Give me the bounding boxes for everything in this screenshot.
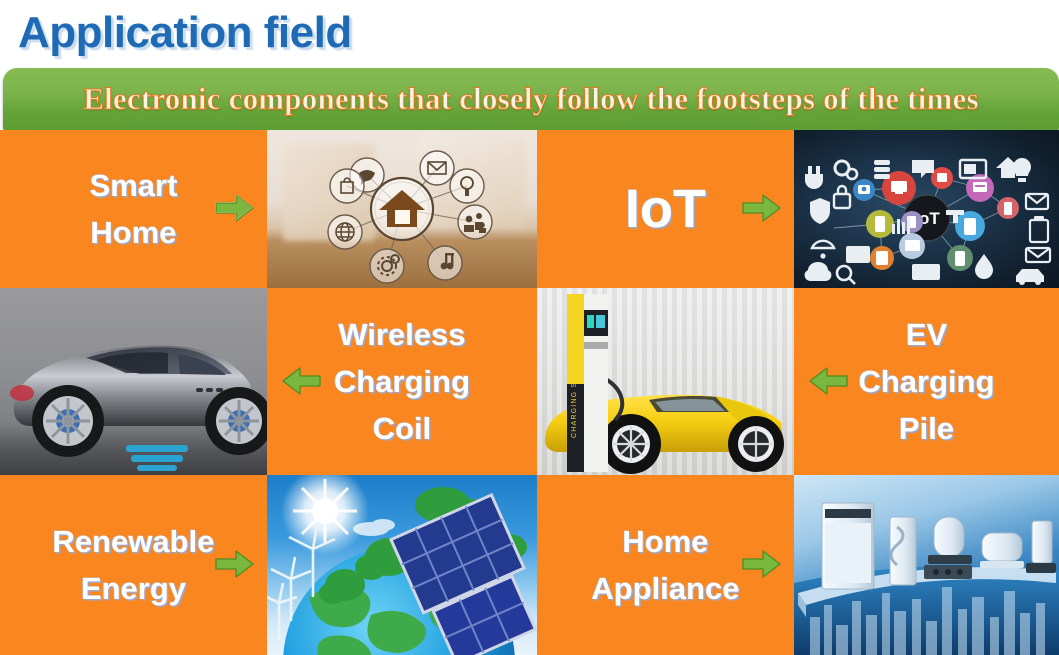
cell-smart-home-image — [267, 130, 537, 288]
arrow-right-icon — [742, 548, 782, 582]
cell-label: IoT — [625, 179, 706, 239]
iot-network-illustration: IoT — [794, 130, 1059, 288]
cell-label: Wireless Charging Coil — [334, 311, 470, 452]
arrow-left-icon — [808, 365, 848, 399]
cell-label: Renewable Energy — [53, 518, 215, 612]
renewable-energy-illustration — [267, 475, 537, 655]
cell-wireless-charging-image — [0, 288, 267, 475]
cell-iot-image: IoT — [794, 130, 1059, 288]
cell-ev-charging-pile[interactable]: EV Charging Pile — [794, 288, 1059, 475]
pillar-text: CHARGING STATION — [571, 350, 578, 438]
cell-renewable-energy-image — [267, 475, 537, 655]
ev-charging-station-photo: CHARGING STATION — [537, 288, 794, 475]
cell-smart-home[interactable]: Smart Home — [0, 130, 267, 288]
application-grid: Smart Home — [0, 130, 1059, 655]
cell-label: EV Charging Pile — [858, 311, 994, 452]
cell-label: Home Appliance — [591, 518, 739, 612]
arrow-right-icon — [215, 548, 255, 582]
smart-home-illustration — [267, 130, 537, 288]
cell-label: Smart Home — [90, 162, 178, 256]
cell-wireless-charging-coil[interactable]: Wireless Charging Coil — [267, 288, 537, 475]
arrow-left-icon — [281, 365, 321, 399]
cell-renewable-energy[interactable]: Renewable Energy — [0, 475, 267, 655]
arrow-right-icon — [742, 192, 782, 226]
banner-text: Electronic components that closely follo… — [83, 81, 979, 117]
wireless-charging-car-photo — [0, 288, 267, 475]
cell-home-appliance[interactable]: Home Appliance — [537, 475, 794, 655]
cell-iot[interactable]: IoT — [537, 130, 794, 288]
home-appliance-illustration — [794, 475, 1059, 655]
banner: Electronic components that closely follo… — [3, 68, 1059, 130]
cell-ev-charging-image: CHARGING STATION — [537, 288, 794, 475]
page-title: Application field — [18, 2, 352, 64]
arrow-right-icon — [215, 192, 255, 226]
cell-home-appliance-image — [794, 475, 1059, 655]
